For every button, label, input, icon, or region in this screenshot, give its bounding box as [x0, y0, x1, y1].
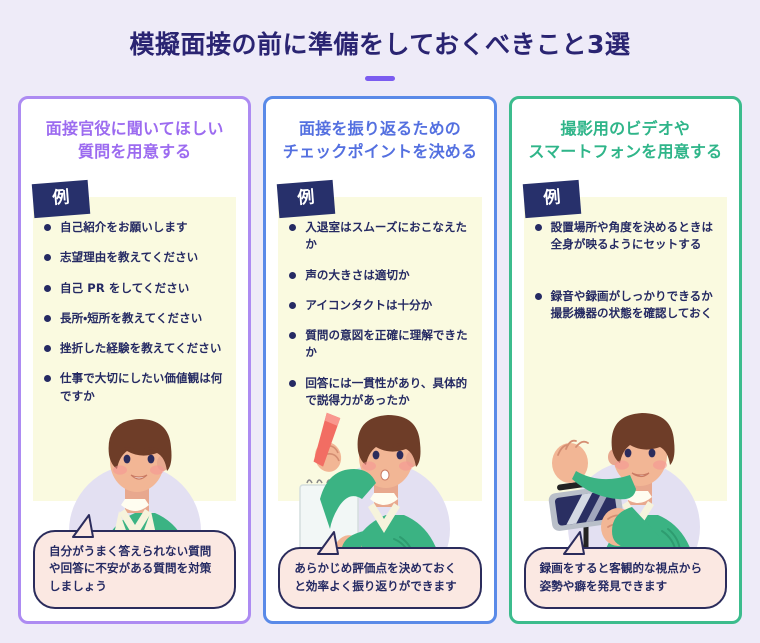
card-3-heading-line-2: スマートフォンを用意する: [522, 140, 729, 163]
card-1-heading: 面接官役に聞いてほしい 質問を用意する: [31, 117, 238, 163]
list-item: 自己 PR をしてください: [43, 280, 226, 297]
card-1-speech-bubble: 自分がうまく答えられない質問や回答に不安がある質問を対策しましょう: [33, 530, 236, 609]
card-2-heading-line-1: 面接を振り返るための: [276, 117, 483, 140]
card-2-example-tag: 例: [277, 180, 335, 218]
list-item: 志望理由を教えてください: [43, 249, 226, 266]
list-item: 質問の意図を正確に理解できたか: [288, 327, 471, 362]
card-3-bullet-list: 設置場所や角度を決めるときは全身が映るようにセットする 録音や録画がしっかりでき…: [534, 219, 717, 322]
list-item: 自己紹介をお願いします: [43, 219, 226, 236]
card-2-speech-bubble: あらかじめ評価点を決めておくと効率よく振り返りができます: [278, 547, 481, 609]
card-1-heading-line-2: 質問を用意する: [31, 140, 238, 163]
card-3[interactable]: 撮影用のビデオや スマートフォンを用意する 設置場所や角度を決めるときは全身が映…: [509, 96, 742, 624]
card-2-bullet-list: 入退室はスムーズにおこなえたか 声の大きさは適切か アイコンタクトは十分か 質問…: [288, 219, 471, 409]
card-1-bullet-list: 自己紹介をお願いします 志望理由を教えてください 自己 PR をしてください 長…: [43, 219, 226, 405]
list-item: アイコンタクトは十分か: [288, 297, 471, 314]
infographic-root: 模擬面接の前に準備をしておくべきこと3選 面接官役に聞いてほしい 質問を用意する…: [0, 0, 760, 643]
card-3-bubble-text: 録画をすると客観的な視点から姿勢や癖を発見できます: [540, 560, 711, 596]
card-3-example-tag-label: 例: [542, 189, 560, 207]
card-2-heading: 面接を振り返るための チェックポイントを決める: [276, 117, 483, 163]
card-1-example-tag-label: 例: [52, 189, 70, 207]
card-3-example-tag: 例: [522, 180, 580, 218]
card-1-heading-line-1: 面接官役に聞いてほしい: [31, 117, 238, 140]
list-item: 長所・短所を教えてください: [43, 310, 226, 327]
card-3-heading-line-1: 撮影用のビデオや: [522, 117, 729, 140]
card-2[interactable]: 面接を振り返るための チェックポイントを決める 入退室はスムーズにおこなえたか …: [263, 96, 496, 624]
card-2-heading-line-2: チェックポイントを決める: [276, 140, 483, 163]
list-item: 録音や録画がしっかりできるか撮影機器の状態を確認しておく: [534, 288, 717, 323]
list-item: 設置場所や角度を決めるときは全身が映るようにセットする: [534, 219, 717, 254]
title-underline-accent: [365, 76, 395, 81]
card-list: 面接官役に聞いてほしい 質問を用意する 自己紹介をお願いします 志望理由を教えて…: [18, 96, 742, 624]
card-2-bubble-text: あらかじめ評価点を決めておくと効率よく振り返りができます: [294, 560, 465, 596]
card-3-heading: 撮影用のビデオや スマートフォンを用意する: [522, 117, 729, 163]
card-2-example-tag-label: 例: [297, 189, 315, 207]
list-item: 挫折した経験を教えてください: [43, 340, 226, 357]
card-1[interactable]: 面接官役に聞いてほしい 質問を用意する 自己紹介をお願いします 志望理由を教えて…: [18, 96, 251, 624]
card-1-bubble-text: 自分がうまく答えられない質問や回答に不安がある質問を対策しましょう: [49, 543, 220, 596]
list-item: 声の大きさは適切か: [288, 267, 471, 284]
page-title: 模擬面接の前に準備をしておくべきこと3選: [0, 30, 760, 60]
list-item: 入退室はスムーズにおこなえたか: [288, 219, 471, 254]
card-1-example-tag: 例: [32, 180, 90, 218]
card-3-speech-bubble: 録画をすると客観的な視点から姿勢や癖を発見できます: [524, 547, 727, 609]
